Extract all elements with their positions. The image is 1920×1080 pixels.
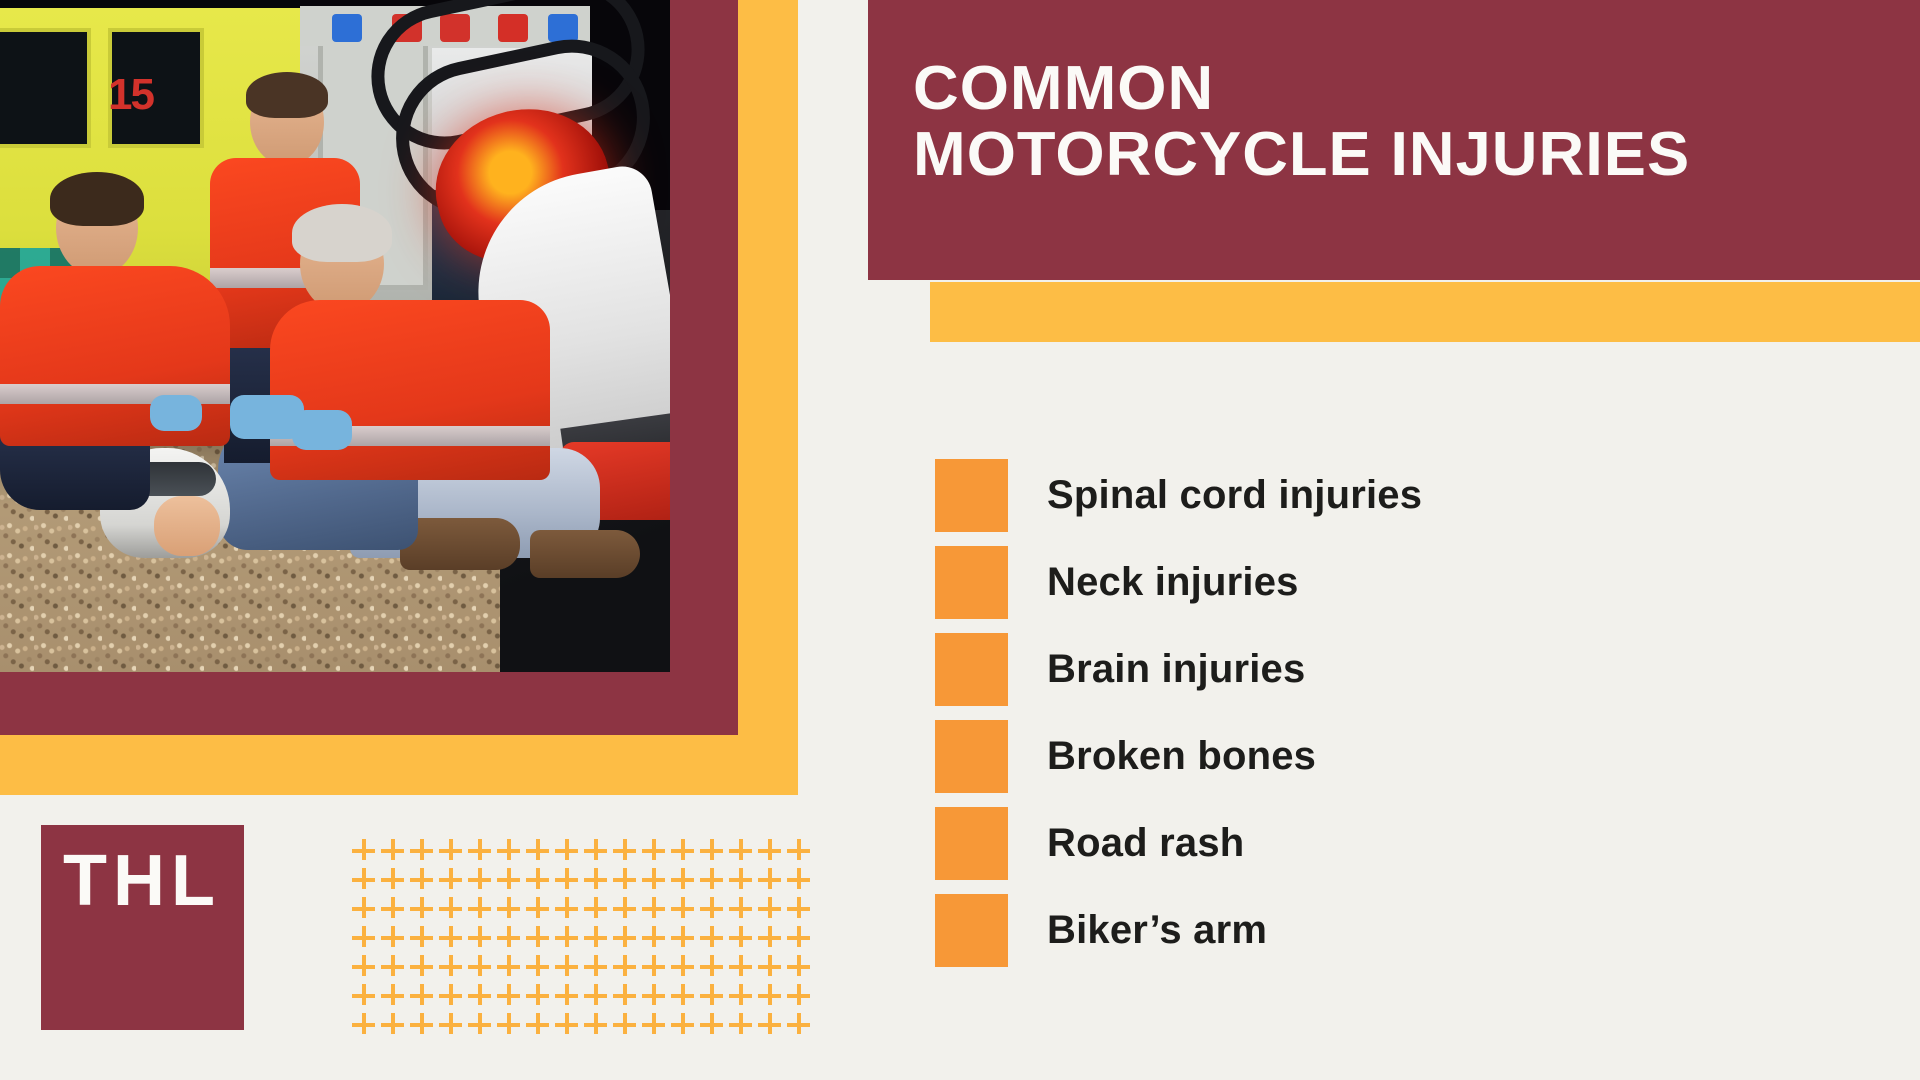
ambulance-window-left (0, 28, 91, 148)
accident-scene-illustration: 15 (0, 0, 670, 672)
plus-icon (527, 925, 556, 954)
plus-icon (788, 1012, 817, 1041)
paramedic-kneeling-right (270, 210, 550, 510)
plus-icon (440, 838, 469, 867)
plus-icon (672, 838, 701, 867)
plus-icon (382, 838, 411, 867)
plus-icon (440, 867, 469, 896)
plus-icon (701, 925, 730, 954)
paramedic-kneeling-left (0, 180, 230, 480)
plus-icon (759, 1012, 788, 1041)
plus-icon (643, 1012, 672, 1041)
plus-icon (353, 954, 382, 983)
plus-icon (643, 867, 672, 896)
plus-icon (585, 838, 614, 867)
plus-icon (585, 896, 614, 925)
plus-icon (353, 925, 382, 954)
plus-icon (643, 896, 672, 925)
plus-icon (527, 838, 556, 867)
plus-icon (788, 954, 817, 983)
plus-icon (672, 983, 701, 1012)
plus-icon (643, 983, 672, 1012)
plus-icon (440, 954, 469, 983)
paramedic-hair-grey (292, 204, 392, 262)
accident-photo: 15 (0, 0, 670, 672)
plus-icon (353, 896, 382, 925)
injury-list-item: Broken bones (935, 713, 1835, 800)
plus-icon (353, 1012, 382, 1041)
plus-icon (498, 867, 527, 896)
plus-icon (527, 896, 556, 925)
injury-label: Broken bones (1047, 734, 1316, 779)
plus-icon (614, 983, 643, 1012)
plus-icon (614, 867, 643, 896)
injury-bullet-square-icon (935, 894, 1008, 967)
plus-icon (730, 983, 759, 1012)
plus-icon (382, 925, 411, 954)
plus-icon (382, 896, 411, 925)
plus-icon (469, 838, 498, 867)
plus-icon (585, 983, 614, 1012)
plus-icon (643, 954, 672, 983)
plus-icon (469, 867, 498, 896)
thl-logo-text: THL (63, 845, 221, 917)
plus-icon (411, 925, 440, 954)
injury-label: Spinal cord injuries (1047, 473, 1422, 518)
plus-icon (585, 925, 614, 954)
page-title: COMMON MOTORCYCLE INJURIES (913, 56, 1690, 187)
plus-icon (759, 954, 788, 983)
title-line-1: COMMON (913, 56, 1690, 122)
ambulance-number: 15 (108, 70, 153, 120)
plus-icon (556, 867, 585, 896)
paramedic-glove-right (292, 410, 352, 450)
plus-icon (672, 867, 701, 896)
plus-icon (672, 954, 701, 983)
plus-icon (353, 867, 382, 896)
plus-icon (585, 867, 614, 896)
plus-icon (411, 954, 440, 983)
plus-icon (469, 1012, 498, 1041)
thl-logo[interactable]: THL (41, 825, 244, 1030)
victim-boot-right (530, 530, 640, 578)
plus-icon (353, 838, 382, 867)
plus-icon (411, 896, 440, 925)
plus-icon (672, 896, 701, 925)
plus-icon (498, 838, 527, 867)
plus-icon (730, 896, 759, 925)
plus-icon (730, 925, 759, 954)
paramedic-hair (246, 72, 328, 118)
plus-icon (498, 954, 527, 983)
title-block: COMMON MOTORCYCLE INJURIES (868, 0, 1920, 280)
plus-icon (556, 925, 585, 954)
injury-bullet-square-icon (935, 546, 1008, 619)
plus-icon (614, 896, 643, 925)
plus-icon (672, 1012, 701, 1041)
plus-icon (411, 867, 440, 896)
plus-icon (469, 954, 498, 983)
plus-icon (701, 838, 730, 867)
plus-icon (759, 925, 788, 954)
plus-icon (788, 838, 817, 867)
plus-icon (440, 896, 469, 925)
injury-list-item: Brain injuries (935, 626, 1835, 713)
plus-icon (498, 1012, 527, 1041)
plus-icon (527, 954, 556, 983)
plus-icon (614, 954, 643, 983)
plus-icon (556, 838, 585, 867)
paramedic-jacket (270, 300, 550, 480)
plus-icon (701, 896, 730, 925)
plus-icon (759, 983, 788, 1012)
injury-list-item: Road rash (935, 800, 1835, 887)
plus-icon (440, 983, 469, 1012)
plus-icon (759, 896, 788, 925)
injury-bullet-square-icon (935, 720, 1008, 793)
plus-icon (614, 1012, 643, 1041)
plus-icon (701, 1012, 730, 1041)
plus-icon (730, 954, 759, 983)
plus-icon (498, 983, 527, 1012)
plus-icon (411, 983, 440, 1012)
plus-icon (556, 1012, 585, 1041)
plus-icon (730, 1012, 759, 1041)
plus-icon (730, 867, 759, 896)
injury-label: Brain injuries (1047, 647, 1305, 692)
plus-icon (353, 983, 382, 1012)
injury-bullet-square-icon (935, 633, 1008, 706)
plus-icon (556, 983, 585, 1012)
plus-icon (759, 838, 788, 867)
plus-icon (498, 896, 527, 925)
plus-icon (556, 954, 585, 983)
plus-icon (382, 1012, 411, 1041)
injury-list-item: Neck injuries (935, 539, 1835, 626)
injury-list-item: Spinal cord injuries (935, 452, 1835, 539)
plus-icon (469, 983, 498, 1012)
plus-icon (382, 867, 411, 896)
plus-icon (585, 1012, 614, 1041)
plus-icon (701, 983, 730, 1012)
plus-icon (701, 954, 730, 983)
injury-label: Neck injuries (1047, 560, 1299, 605)
injury-list-item: Biker’s arm (935, 887, 1835, 974)
plus-icon (440, 1012, 469, 1041)
injury-list: Spinal cord injuriesNeck injuriesBrain i… (935, 452, 1835, 974)
injury-bullet-square-icon (935, 459, 1008, 532)
plus-icon (382, 983, 411, 1012)
plus-icon (527, 867, 556, 896)
plus-icon (788, 983, 817, 1012)
paramedic-glove (150, 395, 202, 431)
victim-boot-left (400, 518, 520, 570)
plus-icon (788, 925, 817, 954)
injury-label: Road rash (1047, 821, 1244, 866)
plus-icon (730, 838, 759, 867)
title-line-2: MOTORCYCLE INJURIES (913, 122, 1690, 188)
plus-icon (701, 867, 730, 896)
title-accent-bar (930, 282, 1920, 342)
plus-icon (527, 1012, 556, 1041)
plus-icon (643, 838, 672, 867)
paramedic-hair (50, 172, 144, 226)
plus-icon (411, 838, 440, 867)
plus-icon (759, 867, 788, 896)
plus-pattern-decoration (353, 838, 803, 1040)
plus-icon (672, 925, 701, 954)
plus-icon (469, 925, 498, 954)
injury-label: Biker’s arm (1047, 908, 1267, 953)
plus-icon (614, 838, 643, 867)
plus-icon (585, 954, 614, 983)
plus-icon (788, 867, 817, 896)
plus-icon (469, 896, 498, 925)
injury-bullet-square-icon (935, 807, 1008, 880)
plus-icon (788, 896, 817, 925)
victim-face (154, 496, 220, 556)
plus-icon (440, 925, 469, 954)
plus-icon (382, 954, 411, 983)
plus-icon (411, 1012, 440, 1041)
plus-icon (527, 983, 556, 1012)
photo-composition: 15 (0, 0, 800, 800)
plus-icon (643, 925, 672, 954)
plus-icon (498, 925, 527, 954)
plus-icon (556, 896, 585, 925)
plus-icon (614, 925, 643, 954)
